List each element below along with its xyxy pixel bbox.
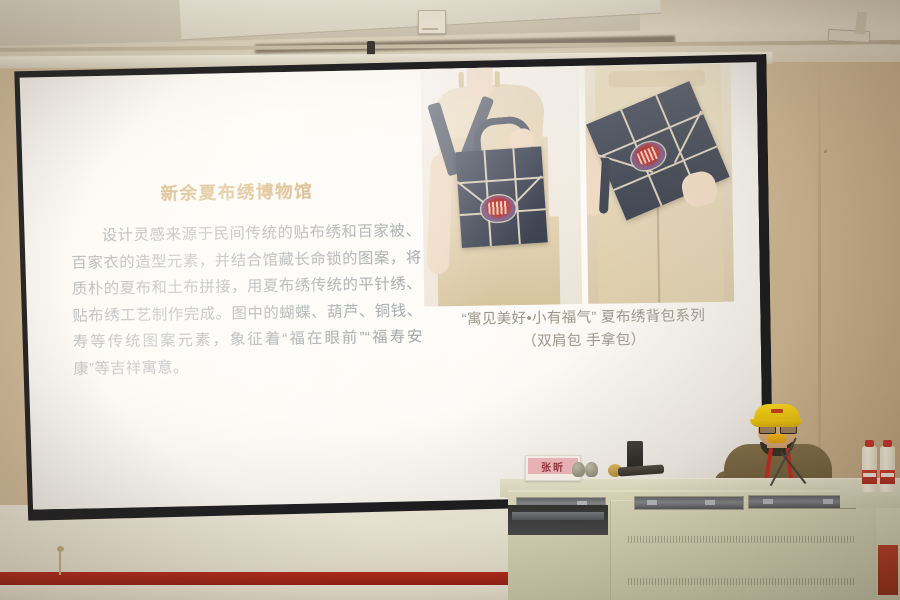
presenter-mouth xyxy=(768,434,786,443)
podium-front-panel xyxy=(610,500,873,600)
wall-red-stripe xyxy=(0,572,524,585)
slide-caption: “寓见美好•小有福气” 夏布绣背包系列 （双肩包 手拿包） xyxy=(418,304,749,355)
wall-blemish xyxy=(824,150,827,153)
earring-icon xyxy=(459,72,464,88)
podium-cavity xyxy=(508,505,608,535)
slide-body-text: 设计灵感来源于民间传统的贴布绣和百家被、百家衣的造型元素，并结合馆藏长命锁的图案… xyxy=(71,219,423,383)
wall-speaker-box-icon xyxy=(418,10,446,34)
caption-line-1: “寓见美好•小有福气” 夏布绣背包系列 xyxy=(462,308,706,328)
slide-title: 新余夏布绣博物馆 xyxy=(160,178,313,205)
nameplate-text: 张昕 xyxy=(541,459,565,474)
shoulder-bag-photo xyxy=(421,66,583,306)
model-neck xyxy=(467,66,494,98)
slide-photo-group xyxy=(421,64,735,307)
projection-screen: 新余夏布绣博物馆 设计灵感来源于民间传统的贴布绣和百家被、百家衣的造型元素，并结… xyxy=(0,46,794,529)
water-bottle[interactable] xyxy=(862,446,877,492)
desk-knob[interactable] xyxy=(585,462,598,477)
podium-red-panel xyxy=(878,545,898,595)
caption-line-2: （双肩包 手拿包） xyxy=(419,327,749,355)
podium-cavity-bar xyxy=(512,512,604,520)
nameplate-face: 张昕 xyxy=(528,458,578,474)
podium-vent xyxy=(628,536,854,543)
wall-wire xyxy=(59,551,61,575)
screen-surface: 新余夏布绣博物馆 设计灵感来源于民间传统的贴布绣和百家被、百家衣的造型元素，并结… xyxy=(11,61,764,510)
water-bottle[interactable] xyxy=(880,446,895,492)
cap-brim xyxy=(750,419,802,427)
cap-logo xyxy=(771,409,783,413)
podium-slot[interactable] xyxy=(634,496,744,510)
presentation-slide: 新余夏布绣博物馆 设计灵感来源于民间传统的贴布绣和百家被、百家衣的造型元素，并结… xyxy=(11,61,764,510)
floor-band xyxy=(0,585,524,600)
podium-vent xyxy=(628,578,854,585)
earring-icon xyxy=(495,71,500,87)
lecture-hall-scene: 新余夏布绣博物馆 设计灵感来源于民间传统的贴布绣和百家被、百家衣的造型元素，并结… xyxy=(0,0,900,600)
embroidery-motif xyxy=(481,194,517,222)
desk-knob[interactable] xyxy=(572,462,585,477)
embroidered-bag xyxy=(455,146,547,248)
clutch-bag-photo xyxy=(585,64,735,304)
